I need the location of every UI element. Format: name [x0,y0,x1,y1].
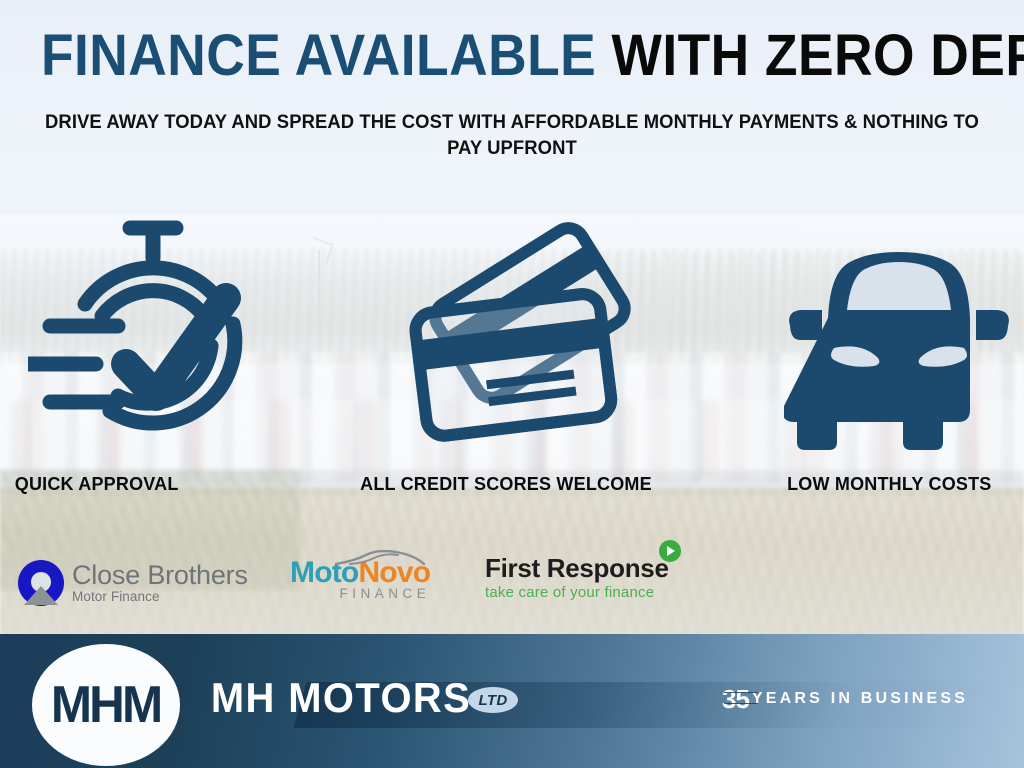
play-triangle [667,546,675,556]
mhm-logo-oval: MHM [32,644,180,766]
partner-close-brothers: Close Brothers Motor Finance [18,560,248,606]
partner-subtitle: take care of your finance [485,584,669,601]
brand-name: MH MOTORS [211,674,471,722]
partner-first-response: First Response take care of your finance [485,554,669,601]
partner-motonovo: MotoNovo FINANCE [290,558,430,601]
green-play-badge-icon [659,540,681,562]
headline: FINANCE AVAILABLE WITH ZERO DEPOSIT [41,24,983,88]
stopwatch-check-icon [28,196,278,466]
years-number: 35 [722,686,749,712]
credit-cards-icon [393,200,643,470]
ltd-label: LTD [479,692,508,709]
feature-label: QUICK APPROVAL [15,474,179,495]
feature-label: LOW MONTHLY COSTS [787,474,991,495]
partner-name: Close Brothers [72,562,248,589]
feature-label: ALL CREDIT SCORES WELCOME [360,474,652,495]
finance-partner-logos: Close Brothers Motor Finance MotoNovo FI… [0,552,1024,630]
feature-low-monthly-costs: LOW MONTHLY COSTS [683,200,1024,530]
years-in-business: 35 YEARS IN BUSINESS [722,686,968,712]
feature-quick-approval: QUICK APPROVAL [0,200,341,530]
feature-all-credit-scores: ALL CREDIT SCORES WELCOME [341,200,682,530]
finance-promo-banner: FINANCE AVAILABLE WITH ZERO DEPOSIT DRIV… [0,0,1024,768]
headline-part-finance-available: FINANCE AVAILABLE [41,23,596,88]
motonovo-car-swoosh-icon [334,550,426,568]
close-brothers-mountain [24,586,58,605]
headline-part-zero-deposit: WITH ZERO DEPOSIT [611,23,1024,88]
mhm-monogram: MHM [51,675,160,735]
car-front-icon [774,220,1024,490]
partner-name: First Response [485,554,669,583]
partner-subtitle: Motor Finance [72,590,248,604]
years-label: YEARS IN BUSINESS [752,690,968,708]
feature-list: QUICK APPROVAL [0,200,1024,530]
ltd-badge: LTD [468,687,518,713]
subheading: DRIVE AWAY TODAY AND SPREAD THE COST WIT… [35,110,989,162]
close-brothers-mountain-logo-icon [18,560,64,606]
